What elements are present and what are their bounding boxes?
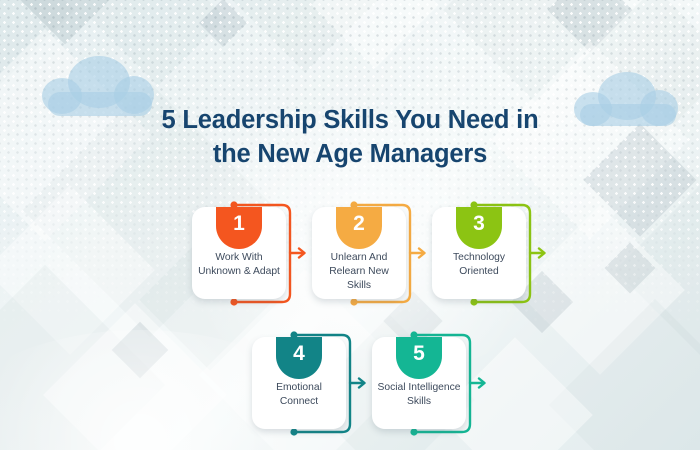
step-label-5: Social Intelligence Skills (377, 381, 461, 409)
step-number-badge-4: 4 (276, 337, 322, 379)
title-line-2: the New Age Managers (0, 138, 700, 172)
page-title: 5 Leadership Skills You Need in the New … (0, 104, 700, 172)
step-card-1[interactable]: 1 Work With Unknown & Adapt (192, 207, 286, 299)
step-number-badge-2: 2 (336, 207, 382, 249)
step-number-3: 3 (473, 207, 485, 234)
step-number-badge-5: 5 (396, 337, 442, 379)
step-number-4: 4 (293, 337, 305, 364)
step-label-4: Emotional Connect (257, 381, 341, 409)
step-label-2: Unlearn And Relearn New Skills (317, 251, 401, 294)
step-label-1: Work With Unknown & Adapt (197, 251, 281, 279)
step-card-2[interactable]: 2 Unlearn And Relearn New Skills (312, 207, 406, 299)
step-card-4[interactable]: 4 Emotional Connect (252, 337, 346, 429)
step-number-1: 1 (233, 207, 245, 234)
step-label-3: Technology Oriented (437, 251, 521, 279)
step-number-badge-3: 3 (456, 207, 502, 249)
step-number-badge-1: 1 (216, 207, 262, 249)
title-line-1: 5 Leadership Skills You Need in (0, 104, 700, 138)
step-card-3[interactable]: 3 Technology Oriented (432, 207, 526, 299)
infographic-poster: 5 Leadership Skills You Need in the New … (0, 0, 700, 450)
step-number-5: 5 (413, 337, 425, 364)
step-number-2: 2 (353, 207, 365, 234)
step-card-5[interactable]: 5 Social Intelligence Skills (372, 337, 466, 429)
